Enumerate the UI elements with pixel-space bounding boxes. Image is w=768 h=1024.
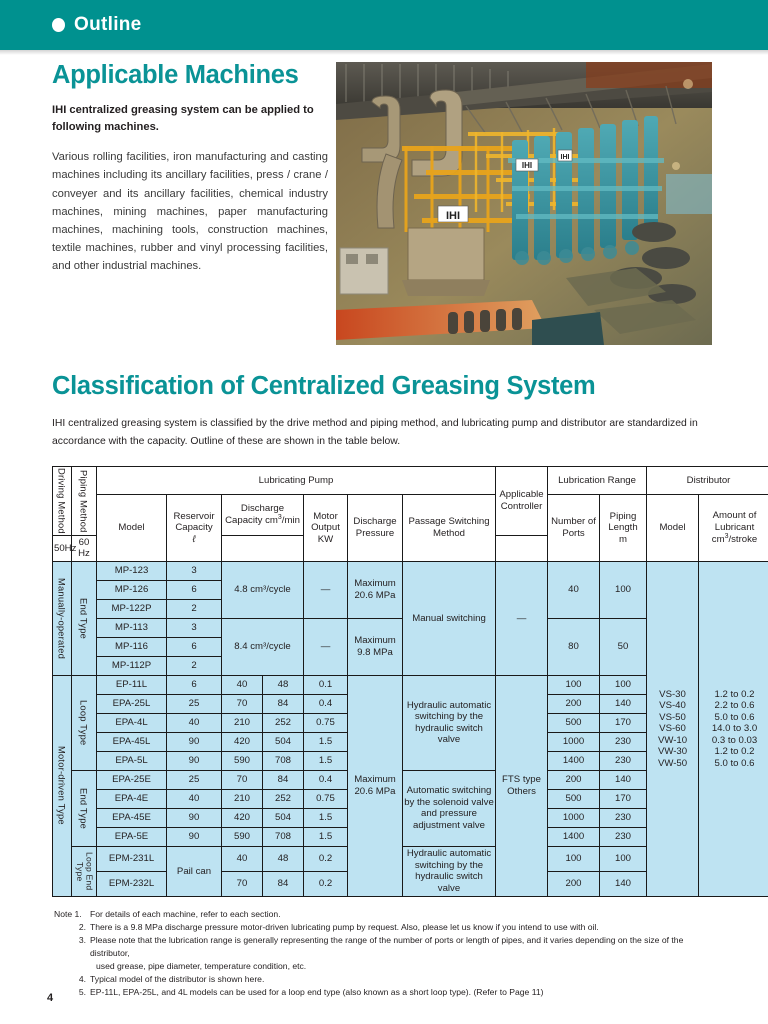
header-motor-output: Motor Output KW	[304, 495, 348, 562]
cell-60hz: 252	[263, 713, 304, 732]
cell-piping-length: 230	[600, 732, 647, 751]
group-end-type-motor: End Type	[72, 770, 97, 846]
cell-reservoir: 90	[167, 751, 222, 770]
header-applicable-controller: Applicable Controller	[496, 467, 548, 536]
cell-discharge-pressure: Maximum 9.8 MPa	[348, 618, 403, 675]
cell-60hz: 504	[263, 732, 304, 751]
cell-model: EPA-4E	[97, 789, 167, 808]
cell-model: EPA-45E	[97, 808, 167, 827]
cell-60hz: 84	[263, 770, 304, 789]
cell-piping-length: 50	[600, 618, 647, 675]
cell-model: MP-113	[97, 618, 167, 637]
cell-number-of-ports: 500	[548, 789, 600, 808]
cell-reservoir: Pail can	[167, 846, 222, 896]
cell-50hz: 590	[222, 827, 263, 846]
cell-50hz: 590	[222, 751, 263, 770]
cell-model: MP-122P	[97, 599, 167, 618]
cell-50hz: 70	[222, 694, 263, 713]
cell-50hz: 40	[222, 675, 263, 694]
photo-illustration: IHI IHI IHI	[336, 62, 712, 345]
section-heading-applicable-machines: Applicable Machines	[52, 62, 328, 90]
classification-table-wrapper: Driving Method Piping Method Lubricating…	[52, 466, 715, 897]
cell-number-of-ports: 200	[548, 871, 600, 896]
cell-motor-output: 0.2	[304, 846, 348, 871]
cell-reservoir: 6	[167, 580, 222, 599]
section-heading-classification: Classification of Centralized Greasing S…	[52, 372, 714, 401]
cell-60hz: 48	[263, 675, 304, 694]
cell-motor-output: 1.5	[304, 751, 348, 770]
banner-title: Outline	[74, 14, 142, 36]
cell-discharge-pressure: Maximum 20.6 MPa	[348, 675, 403, 896]
note-item: 4. Typical model of the distributor is s…	[54, 973, 724, 986]
cell-motor-output: 1.5	[304, 732, 348, 751]
header-passage-switching-method: Passage Switching Method	[403, 495, 496, 562]
cell-number-of-ports: 40	[548, 561, 600, 618]
cell-model: MP-123	[97, 561, 167, 580]
cell-piping-length: 100	[600, 675, 647, 694]
cell-passage-switching: Hydraulic automatic switching by the hyd…	[403, 846, 496, 896]
svg-text:IHI: IHI	[561, 154, 570, 161]
svg-text:IHI: IHI	[522, 161, 532, 170]
cell-number-of-ports: 1400	[548, 827, 600, 846]
cell-lubricant-amounts: 1.2 to 0.2 2.2 to 0.6 5.0 to 0.6 14.0 to…	[699, 561, 768, 896]
header-lubricating-pump: Lubricating Pump	[97, 467, 496, 495]
cell-60hz: 84	[263, 871, 304, 896]
group-end-type-manual: End Type	[72, 561, 97, 675]
cell-60hz: 48	[263, 846, 304, 871]
cell-model: EPA-25E	[97, 770, 167, 789]
cell-reservoir: 90	[167, 808, 222, 827]
cell-model: EPA-45L	[97, 732, 167, 751]
note-item: Note 1. For details of each machine, ref…	[54, 908, 724, 921]
group-loop-end-type: Loop End Type	[72, 846, 97, 896]
cell-50hz: 420	[222, 732, 263, 751]
header-piping-length: Piping Length m	[600, 495, 647, 562]
header-discharge-pressure: Discharge Pressure	[348, 495, 403, 562]
cell-60hz: 708	[263, 751, 304, 770]
cell-number-of-ports: 100	[548, 675, 600, 694]
cell-50hz: 210	[222, 789, 263, 808]
cell-50hz: 40	[222, 846, 263, 871]
cell-50hz: 70	[222, 871, 263, 896]
cell-motor-output: 0.4	[304, 694, 348, 713]
cell-50hz: 70	[222, 770, 263, 789]
cell-applicable-controller: FTS type Others	[496, 675, 548, 896]
cell-piping-length: 140	[600, 770, 647, 789]
cell-piping-length: 230	[600, 808, 647, 827]
cell-model: MP-116	[97, 637, 167, 656]
cell-model: EPA-4L	[97, 713, 167, 732]
cell-number-of-ports: 500	[548, 713, 600, 732]
cell-60hz: 708	[263, 827, 304, 846]
page-header-banner: Outline	[0, 0, 768, 50]
header-discharge-capacity: Discharge Capacity cm3/min	[222, 495, 304, 536]
cell-discharge-capacity: 4.8 cm³/cycle	[222, 561, 304, 618]
cell-reservoir: 90	[167, 827, 222, 846]
cell-applicable-controller: —	[496, 561, 548, 675]
cell-model: MP-126	[97, 580, 167, 599]
group-loop-type: Loop Type	[72, 675, 97, 770]
cell-model: EPA-5L	[97, 751, 167, 770]
classification-intro: IHI centralized greasing system is class…	[52, 415, 714, 451]
header-lubrication-range: Lubrication Range	[548, 467, 647, 495]
note-item: 2. There is a 9.8 MPa discharge pressure…	[54, 921, 724, 934]
cell-motor-output: —	[304, 618, 348, 675]
table-header-row-2: Model Reservoir Capacity ℓ Discharge Cap…	[53, 495, 768, 536]
cell-number-of-ports: 1000	[548, 808, 600, 827]
cell-reservoir: 6	[167, 637, 222, 656]
table-row: Manually-operated End Type MP-123 3 4.8 …	[53, 561, 768, 580]
header-driving-method: Driving Method	[53, 467, 72, 536]
header-distributor: Distributor	[647, 467, 768, 495]
circle-bullet-icon	[52, 18, 65, 32]
cell-model: EPM-231L	[97, 846, 167, 871]
cell-passage-switching: Manual switching	[403, 561, 496, 675]
note-continuation: used grease, pipe diameter, temperature …	[96, 960, 724, 973]
cell-piping-length: 230	[600, 827, 647, 846]
header-piping-method: Piping Method	[72, 467, 97, 536]
cell-number-of-ports: 200	[548, 770, 600, 789]
page-number: 4	[47, 992, 53, 1004]
cell-number-of-ports: 100	[548, 846, 600, 871]
cell-motor-output: 0.4	[304, 770, 348, 789]
classification-section: Classification of Centralized Greasing S…	[52, 372, 714, 451]
cell-piping-length: 140	[600, 871, 647, 896]
cell-motor-output: —	[304, 561, 348, 618]
cell-60hz: 252	[263, 789, 304, 808]
cell-reservoir: 90	[167, 732, 222, 751]
header-amount-of-lubricant: Amount of Lubricant cm3/stroke	[699, 495, 768, 562]
cell-model: EP-11L	[97, 675, 167, 694]
cell-piping-length: 170	[600, 713, 647, 732]
cell-model: MP-112P	[97, 656, 167, 675]
cell-motor-output: 0.75	[304, 713, 348, 732]
cell-number-of-ports: 1000	[548, 732, 600, 751]
cell-passage-switching: Hydraulic automatic switching by the hyd…	[403, 675, 496, 770]
cell-piping-length: 140	[600, 694, 647, 713]
cell-number-of-ports: 200	[548, 694, 600, 713]
cell-60hz: 84	[263, 694, 304, 713]
cell-number-of-ports: 1400	[548, 751, 600, 770]
header-number-of-ports: Number of Ports	[548, 495, 600, 562]
classification-table: Driving Method Piping Method Lubricating…	[52, 466, 768, 897]
industrial-rolling-mill-photo: IHI IHI IHI	[336, 62, 712, 345]
cell-reservoir: 6	[167, 675, 222, 694]
cell-piping-length: 100	[600, 846, 647, 871]
note-item: 3. Please note that the lubrication rang…	[54, 934, 724, 960]
cell-model: EPA-5E	[97, 827, 167, 846]
cell-60hz: 504	[263, 808, 304, 827]
cell-reservoir: 25	[167, 770, 222, 789]
header-50hz: 50Hz	[53, 535, 72, 561]
cell-reservoir: 40	[167, 713, 222, 732]
header-model: Model	[97, 495, 167, 562]
applicable-machines-lead: IHI centralized greasing system can be a…	[52, 102, 328, 137]
cell-motor-output: 1.5	[304, 827, 348, 846]
cell-discharge-pressure: Maximum 20.6 MPa	[348, 561, 403, 618]
cell-reservoir: 2	[167, 599, 222, 618]
cell-motor-output: 1.5	[304, 808, 348, 827]
cell-model: EPM-232L	[97, 871, 167, 896]
cell-piping-length: 230	[600, 751, 647, 770]
cell-50hz: 210	[222, 713, 263, 732]
group-manually-operated: Manually-operated	[53, 561, 72, 675]
header-distributor-model: Model	[647, 495, 699, 562]
cell-piping-length: 170	[600, 789, 647, 808]
banner-shadow	[0, 50, 768, 55]
applicable-machines-section: Applicable Machines IHI centralized grea…	[52, 62, 328, 275]
applicable-machines-body: Various rolling facilities, iron manufac…	[52, 148, 328, 275]
notes-block: Note 1. For details of each machine, ref…	[54, 908, 724, 999]
cell-piping-length: 100	[600, 561, 647, 618]
cell-50hz: 420	[222, 808, 263, 827]
note-item: 5. EP-11L, EPA-25L, and 4L models can be…	[54, 986, 724, 999]
cell-reservoir: 40	[167, 789, 222, 808]
cell-motor-output: 0.1	[304, 675, 348, 694]
cell-model: EPA-25L	[97, 694, 167, 713]
group-motor-driven: Motor-driven Type	[53, 675, 72, 896]
cell-motor-output: 0.2	[304, 871, 348, 896]
header-reservoir-capacity: Reservoir Capacity ℓ	[167, 495, 222, 562]
svg-text:IHI: IHI	[446, 210, 460, 222]
cell-motor-output: 0.75	[304, 789, 348, 808]
cell-reservoir: 2	[167, 656, 222, 675]
table-header-row-1: Driving Method Piping Method Lubricating…	[53, 467, 768, 495]
cell-distributor-models: VS-30 VS-40 VS-50 VS-60 VW-10 VW-30 VW-5…	[647, 561, 699, 896]
cell-reservoir: 3	[167, 561, 222, 580]
cell-number-of-ports: 80	[548, 618, 600, 675]
cell-reservoir: 25	[167, 694, 222, 713]
cell-discharge-capacity: 8.4 cm³/cycle	[222, 618, 304, 675]
cell-passage-switching: Automatic switching by the solenoid valv…	[403, 770, 496, 846]
cell-reservoir: 3	[167, 618, 222, 637]
